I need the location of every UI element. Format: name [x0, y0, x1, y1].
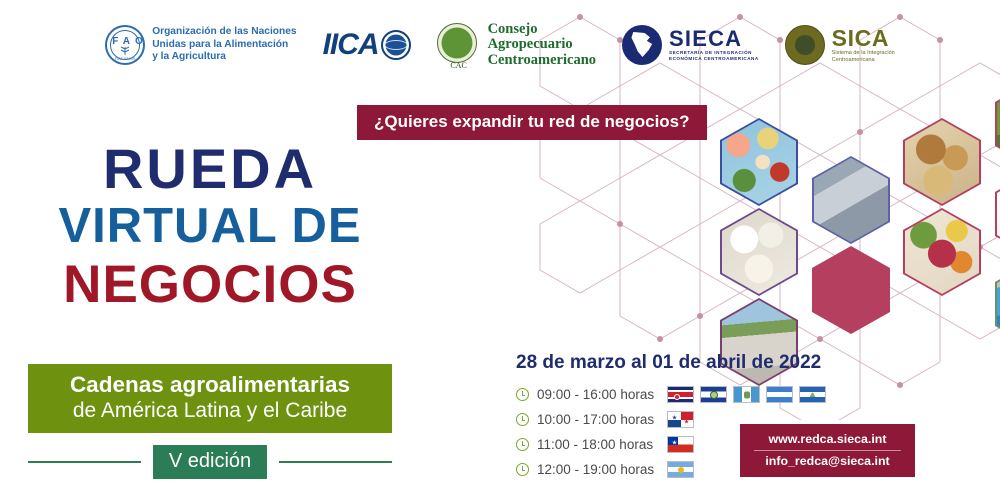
- contact-divider: [754, 450, 901, 451]
- logo-cac: CAC Consejo Agropecuario Centroamericano: [437, 22, 596, 69]
- hex-tile-breads-and-grains: [903, 118, 981, 206]
- flag-nicaragua: [799, 386, 826, 403]
- contact-box[interactable]: www.redca.sieca.int info_redca@sieca.int: [740, 424, 915, 477]
- subtitle-line-1: Cadenas agroalimentarias: [38, 371, 382, 398]
- clock-icon: [516, 388, 529, 401]
- edition-badge: V edición: [153, 445, 267, 479]
- sica-wordmark: SICA: [832, 27, 895, 50]
- globe-icon: [381, 30, 411, 60]
- cac-emblem-icon: CAC: [437, 23, 481, 67]
- flag-chile: [667, 436, 694, 453]
- event-title: RUEDA VIRTUAL DE NEGOCIOS: [0, 140, 420, 316]
- clock-icon: [516, 438, 529, 451]
- hex-tile-fresh-food-platter: [720, 118, 798, 206]
- flag-el-salvador: [700, 386, 727, 403]
- flag-group: [667, 436, 694, 453]
- fao-name-text: Organización de las Naciones Unidas para…: [152, 26, 296, 64]
- sieca-wordmark: SIECA: [669, 28, 759, 50]
- hexagon-photo-collage: [690, 60, 1000, 360]
- flag-group: [667, 386, 826, 403]
- cac-circle: [437, 23, 477, 63]
- hex-tile-greenhouse-lettuce: [995, 80, 1000, 168]
- flag-group: [667, 411, 694, 428]
- schedule-time: 11:00 - 18:00 horas: [537, 437, 667, 452]
- iica-wordmark: IICA: [323, 28, 379, 62]
- schedule-time: 09:00 - 16:00 horas: [537, 387, 667, 402]
- hex-tile-juices-and-fruit: [995, 170, 1000, 258]
- flag-guatemala: [733, 386, 760, 403]
- flag-costa-rica: [667, 386, 694, 403]
- edition-row: V edición: [28, 444, 392, 480]
- hex-tile-snacks-and-pretzels: [812, 246, 890, 334]
- logo-fao: FAO FIAT PANIS Organización de las Nacio…: [105, 25, 296, 65]
- sica-seal-icon: [785, 25, 825, 65]
- fao-emblem-icon: FAO FIAT PANIS: [105, 25, 145, 65]
- title-line-negocios: NEGOCIOS: [0, 254, 420, 316]
- logo-sieca: SIECA SECRETARÍA DE INTEGRACIÓN ECONÓMIC…: [622, 25, 759, 65]
- schedule-time: 12:00 - 19:00 horas: [537, 462, 667, 477]
- clock-icon: [516, 463, 529, 476]
- subtitle-green-box: Cadenas agroalimentarias de América Lati…: [28, 364, 392, 433]
- website-link[interactable]: www.redca.sieca.int: [746, 431, 909, 448]
- schedule-time: 10:00 - 17:00 horas: [537, 412, 667, 427]
- cac-name-text: Consejo Agropecuario Centroamericano: [488, 22, 596, 69]
- cac-abbr: CAC: [437, 61, 481, 70]
- title-line-virtual-de: VIRTUAL DE: [0, 198, 420, 254]
- logo-sica: SICA Sistema de la Integración Centroame…: [785, 25, 895, 65]
- wheat-icon: [117, 46, 133, 55]
- schedule-row: 09:00 - 16:00 horas: [516, 382, 916, 407]
- event-date: 28 de marzo al 01 de abril de 2022: [516, 352, 821, 374]
- flag-argentina: [667, 461, 694, 478]
- email-link[interactable]: info_redca@sieca.int: [746, 453, 909, 470]
- logo-iica: IICA: [323, 28, 411, 62]
- flag-honduras: [766, 386, 793, 403]
- hex-tile-dairy-products: [720, 208, 798, 296]
- divider-line-right: [279, 461, 392, 464]
- subtitle-line-2: de América Latina y el Caribe: [38, 398, 382, 424]
- central-america-map-icon: [622, 25, 662, 65]
- title-line-rueda: RUEDA: [0, 140, 420, 198]
- hex-tile-warehouse-workers: [812, 156, 890, 244]
- flag-group: [667, 461, 694, 478]
- question-banner: ¿Quieres expandir tu red de negocios?: [357, 105, 707, 140]
- divider-line-left: [28, 461, 141, 464]
- promo-banner: FAO FIAT PANIS Organización de las Nacio…: [0, 0, 1000, 500]
- clock-icon: [516, 413, 529, 426]
- hex-tile-bottling-plant: [995, 260, 1000, 348]
- flag-panama: [667, 411, 694, 428]
- fao-motto: FIAT PANIS: [107, 57, 143, 61]
- hex-tile-meat-and-vegetables: [903, 208, 981, 296]
